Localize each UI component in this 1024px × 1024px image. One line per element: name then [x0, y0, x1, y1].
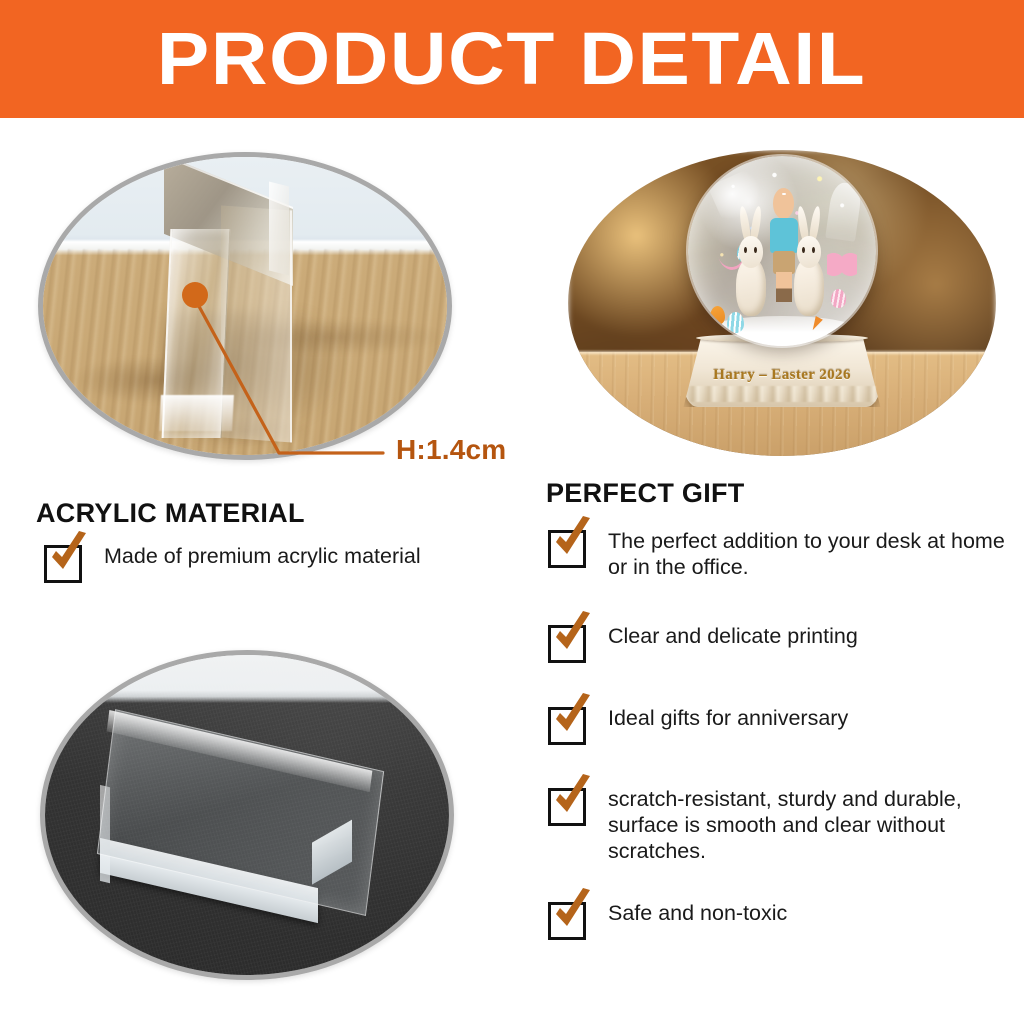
- feature-label: Safe and non-toxic: [608, 900, 787, 926]
- checkbox-checked-icon: [548, 902, 586, 940]
- feature-label: Clear and delicate printing: [608, 623, 858, 649]
- wood-table-background: [43, 157, 447, 455]
- feature-item: Safe and non-toxic: [548, 900, 787, 940]
- feature-item: Ideal gifts for anniversary: [548, 705, 848, 745]
- feature-label: Ideal gifts for anniversary: [608, 705, 848, 731]
- pink-bow: [827, 251, 857, 278]
- checkmark-icon: [550, 611, 596, 659]
- acrylic-edge-photo: [38, 152, 452, 460]
- feature-label: scratch-resistant, sturdy and durable, s…: [608, 786, 1024, 865]
- bunny-eye: [812, 247, 815, 253]
- girl-legs: [776, 272, 793, 303]
- acrylic-base-highlight: [159, 395, 234, 431]
- bunny-eye: [754, 247, 757, 253]
- acrylic-block-photo: [40, 650, 454, 980]
- checkmark-icon: [550, 888, 596, 936]
- base-scroll-ornament: [688, 386, 876, 402]
- feature-label: The perfect addition to your desk at hom…: [608, 528, 1024, 580]
- checkbox-checked-icon: [548, 788, 586, 826]
- snow-globe-photo: Harry – Easter 2026: [568, 150, 996, 456]
- page-title: PRODUCT DETAIL: [157, 22, 866, 96]
- checkbox-checked-icon: [548, 530, 586, 568]
- base-engraving-text: Harry – Easter 2026: [684, 367, 881, 384]
- page-header-banner: PRODUCT DETAIL: [0, 0, 1024, 118]
- dimension-height-label: H:1.4cm: [396, 434, 506, 466]
- snow-globe-scene: Harry – Easter 2026: [568, 150, 996, 456]
- checkmark-icon: [550, 774, 596, 822]
- checkmark-icon: [550, 516, 596, 564]
- checkmark-icon: [550, 693, 596, 741]
- feature-label: Made of premium acrylic material: [104, 543, 421, 569]
- checkbox-checked-icon: [44, 545, 82, 583]
- checkbox-checked-icon: [548, 625, 586, 663]
- section-heading-perfect-gift: PERFECT GIFT: [546, 478, 745, 509]
- bunny-eye: [802, 247, 805, 253]
- feature-item: Clear and delicate printing: [548, 623, 858, 663]
- easter-egg: [831, 289, 846, 308]
- girl-smile: [782, 193, 786, 195]
- acrylic-far-edge: [269, 181, 289, 275]
- glass-sphere: [688, 156, 876, 346]
- checkmark-icon: [46, 531, 92, 579]
- feature-item: Made of premium acrylic material: [44, 543, 421, 583]
- feature-item: The perfect addition to your desk at hom…: [548, 528, 1024, 580]
- bunny-head: [797, 236, 821, 267]
- checkbox-checked-icon: [548, 707, 586, 745]
- bunny-head: [739, 236, 763, 267]
- section-heading-acrylic-material: ACRYLIC MATERIAL: [36, 498, 305, 529]
- bunny-eye: [744, 247, 747, 253]
- bunny-figure-right: [791, 228, 827, 315]
- feature-item: scratch-resistant, sturdy and durable, s…: [548, 786, 1024, 865]
- girl-head: [773, 188, 794, 219]
- slate-background: [45, 655, 449, 975]
- bunny-figure-left: [733, 228, 769, 315]
